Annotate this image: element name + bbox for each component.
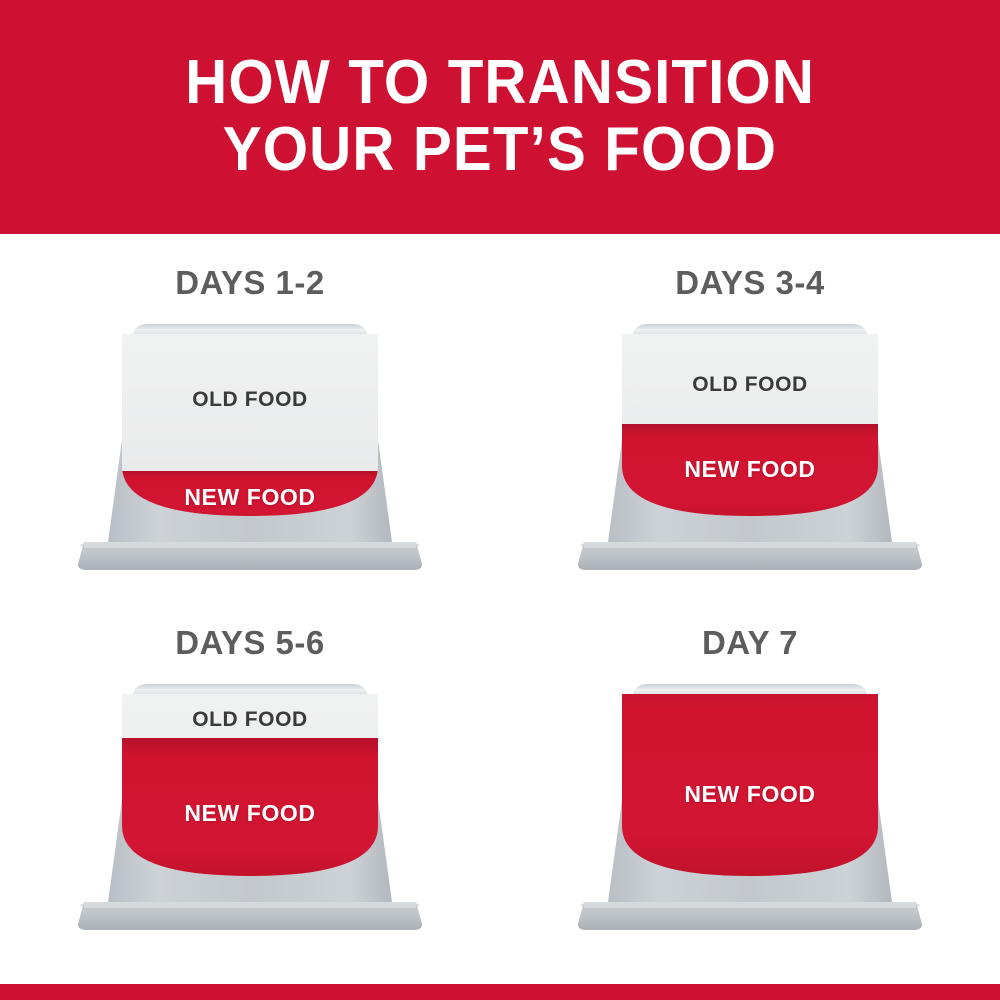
step-title-0: DAYS 1-2 xyxy=(0,264,500,302)
food-bowl-1: OLD FOOD NEW FOOD xyxy=(550,316,950,576)
step-title-3: DAY 7 xyxy=(500,624,1000,662)
bowl-illustration-1 xyxy=(550,316,950,576)
transition-steps-grid: DAYS 1-2 xyxy=(0,234,1000,984)
bowl-illustration-0 xyxy=(50,316,450,576)
step-title-2: DAYS 5-6 xyxy=(0,624,500,662)
bowl-illustration-3 xyxy=(550,676,950,936)
food-bowl-3: NEW FOOD xyxy=(550,676,950,936)
food-bowl-2: OLD FOOD NEW FOOD xyxy=(50,676,450,936)
step-card-days-5-6: DAYS 5-6 xyxy=(0,624,500,994)
header-banner: HOW TO TRANSITION YOUR PET’S FOOD xyxy=(0,0,1000,234)
step-card-day-7: DAY 7 xyxy=(500,624,1000,994)
step-title-1: DAYS 3-4 xyxy=(500,264,1000,302)
food-bowl-0: OLD FOOD NEW FOOD xyxy=(50,316,450,576)
new-food-fill-3 xyxy=(610,686,890,891)
page-title-line-2: YOUR PET’S FOOD xyxy=(223,117,777,184)
page-title-line-1: HOW TO TRANSITION xyxy=(185,50,815,117)
bowl-illustration-2 xyxy=(50,676,450,936)
step-card-days-1-2: DAYS 1-2 xyxy=(0,264,500,634)
step-card-days-3-4: DAYS 3-4 xyxy=(500,264,1000,634)
footer-bar xyxy=(0,984,1000,1000)
